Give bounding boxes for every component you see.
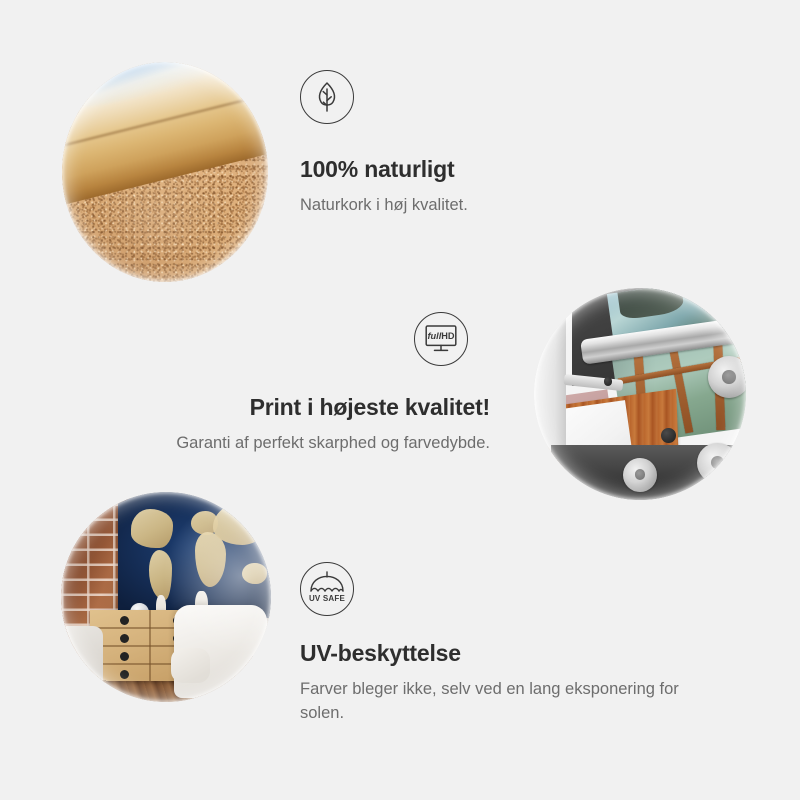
uv-safe-umbrella-icon: UV SAFE: [300, 562, 354, 616]
cork-texture-image: [62, 62, 268, 282]
printer-wheel-bottom-right: [697, 443, 737, 483]
printer-knob: [661, 428, 676, 443]
printing-machine-photo: [534, 288, 746, 500]
feature-uv-protection: UV SAFE UV-beskyttelse Farver bleger ikk…: [300, 562, 720, 725]
cork-texture-photo: [62, 62, 268, 282]
promo-feature-page: 100% naturligt Naturkork i høj kvalitet.: [0, 0, 800, 800]
feature-uv-protection-headline: UV-beskyttelse: [300, 640, 720, 668]
interior-world-map-photo: [61, 492, 271, 702]
printer-knob-small: [604, 377, 612, 385]
printer-wheel-top-right: [708, 356, 746, 398]
feature-natural: 100% naturligt Naturkork i høj kvalitet.: [300, 70, 730, 218]
feature-natural-subline: Naturkork i høj kvalitet.: [300, 194, 730, 218]
interior-light-wash: [61, 492, 271, 702]
leaf-icon: [300, 70, 354, 124]
svg-text:fullHD: fullHD: [427, 331, 454, 341]
fullhd-monitor-icon: fullHD: [414, 312, 468, 366]
feature-uv-protection-subline: Farver bleger ikke, selv ved en lang eks…: [300, 678, 705, 726]
feature-print-quality-subline: Garanti af perfekt skarphed og farvedybd…: [110, 432, 490, 456]
svg-text:UV SAFE: UV SAFE: [309, 594, 346, 603]
printing-machine-image: [534, 288, 746, 500]
printer-wheel-bottom-center: [623, 458, 657, 492]
feature-print-quality: fullHD Print i højeste kvalitet! Garanti…: [110, 312, 490, 456]
interior-world-map-image: [61, 492, 271, 702]
feature-print-quality-headline: Print i højeste kvalitet!: [110, 394, 490, 422]
printer-left-panel: [534, 305, 566, 458]
feature-natural-headline: 100% naturligt: [300, 156, 730, 184]
